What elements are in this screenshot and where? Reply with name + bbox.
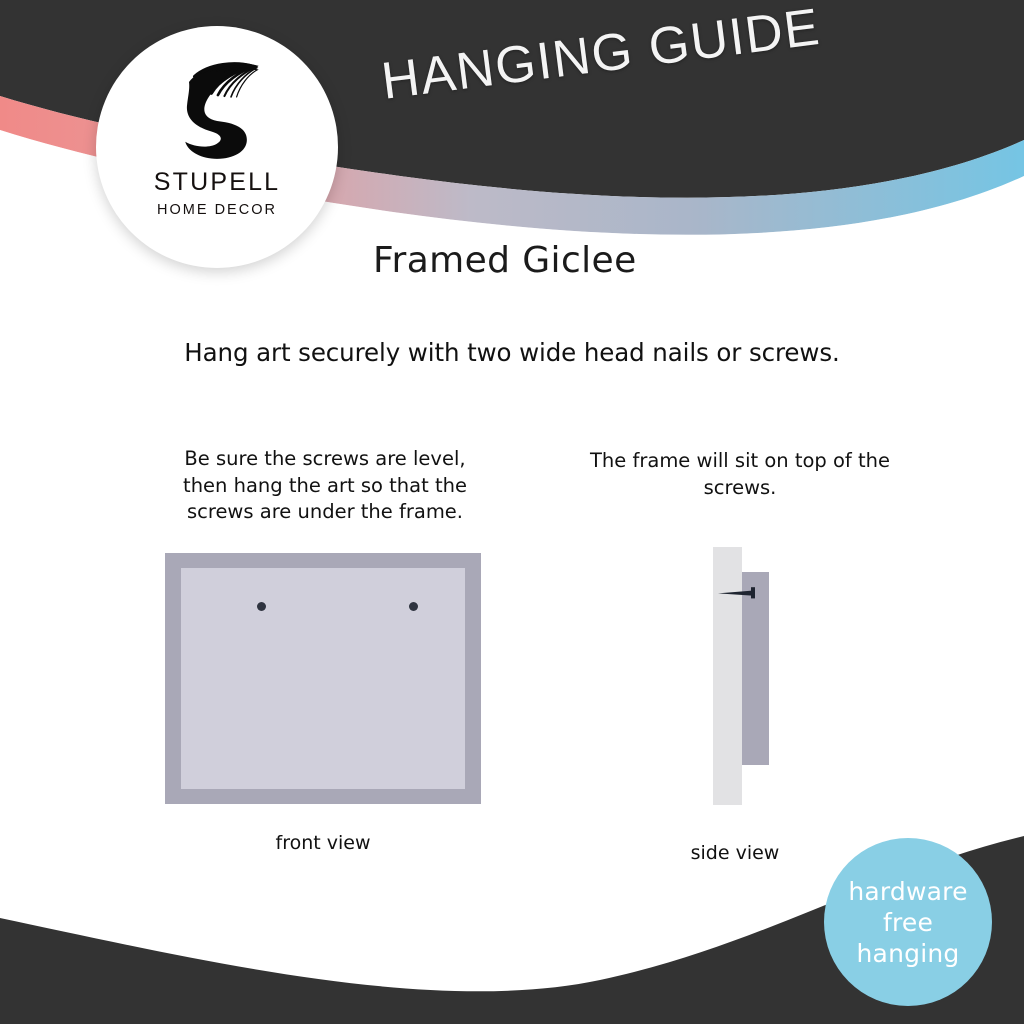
badge-line-1: hardware	[848, 876, 967, 907]
stupell-swan-icon	[161, 54, 273, 166]
product-type-title: Framed Giclee	[373, 240, 637, 281]
screw-dot-right	[409, 602, 418, 611]
page-title: HANGING GUIDE	[378, 0, 823, 112]
brand-logo-badge: STUPELL HOME DECOR	[96, 26, 338, 268]
logo-name: STUPELL	[154, 170, 281, 195]
front-view-diagram	[165, 553, 481, 804]
hardware-free-hanging-badge: hardware free hanging	[824, 838, 992, 1006]
frame-inner-artwork	[181, 568, 465, 789]
frame-cross-section	[742, 572, 769, 765]
badge-line-2: free	[883, 907, 933, 938]
side-view-label: side view	[640, 842, 830, 864]
hanging-guide-page: STUPELL HOME DECOR HANGING GUIDE Framed …	[0, 0, 1024, 1024]
logo-subtitle: HOME DECOR	[157, 203, 277, 218]
lead-instruction-text: Hang art securely with two wide head nai…	[0, 338, 1024, 367]
badge-line-3: hanging	[857, 938, 960, 969]
front-view-caption: Be sure the screws are level, then hang …	[160, 446, 490, 526]
front-view-label: front view	[165, 832, 481, 854]
nail-icon	[718, 586, 760, 600]
screw-dot-left	[257, 602, 266, 611]
side-view-diagram	[705, 540, 795, 815]
side-view-caption: The frame will sit on top of the screws.	[590, 448, 890, 501]
